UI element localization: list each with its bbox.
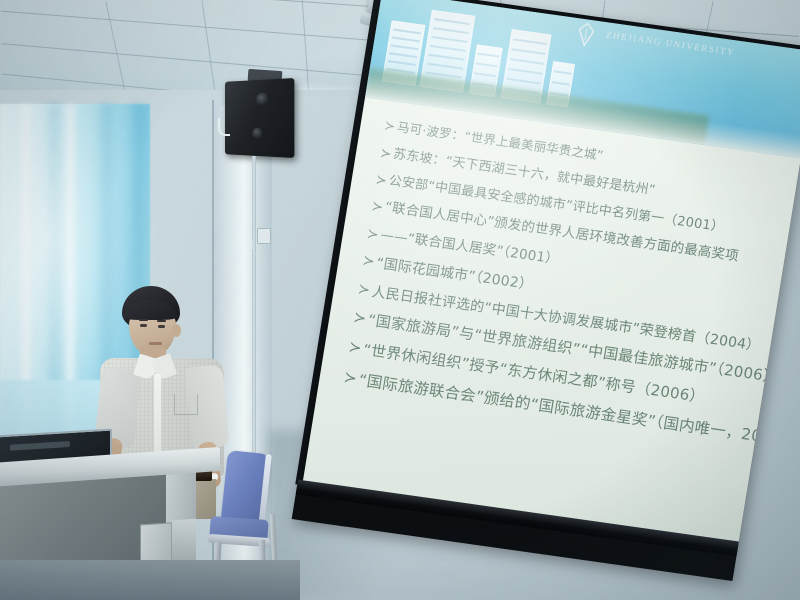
speaker-woofer-icon: [252, 128, 263, 139]
slide-bullet-list: ≻ 马可·波罗：“世界上最美丽华贵之城” ≻ 苏东坡：“天下西湖三十六，就中最好…: [303, 97, 800, 543]
speaker-cable: [218, 118, 230, 136]
bullet-marker-icon: ≻: [384, 118, 397, 134]
projection-screen[interactable]: ZHEJIANG UNIVERSITY ≻ 马可·波罗：“世界上最美丽华贵之城”…: [292, 0, 800, 581]
presenter-mouth: [149, 342, 162, 345]
bullet-marker-icon: ≻: [357, 282, 371, 300]
presenter-ear: [172, 324, 181, 337]
presenter-eyebrow-right: [157, 320, 166, 322]
presenter-eye-right: [158, 325, 165, 328]
bullet-marker-icon: ≻: [361, 254, 375, 272]
speaker-tweeter-icon: [256, 93, 269, 106]
bullet-marker-icon: ≻: [370, 199, 384, 216]
presenter-shirt-pocket: [174, 394, 198, 415]
bullet-marker-icon: ≻: [352, 310, 367, 329]
floor: [0, 560, 300, 600]
bullet-marker-icon: ≻: [347, 339, 362, 358]
wall-cable-conduit: [252, 156, 256, 456]
wall-mounted-loudspeaker: [225, 78, 294, 158]
monitor-screen-glint: [10, 441, 70, 451]
presenter-eye-left: [140, 324, 147, 327]
bullet-marker-icon: ≻: [379, 145, 392, 162]
presenter-eyebrow-left: [139, 319, 148, 321]
university-logo-icon: [571, 20, 601, 49]
photo-scene: ZHEJIANG UNIVERSITY ≻ 马可·波罗：“世界上最美丽华贵之城”…: [0, 0, 800, 600]
bullet-marker-icon: ≻: [375, 172, 388, 189]
screen-surface: ZHEJIANG UNIVERSITY ≻ 马可·波罗：“世界上最美丽华贵之城”…: [303, 0, 800, 543]
bullet-marker-icon: ≻: [342, 369, 358, 389]
bullet-marker-icon: ≻: [366, 226, 380, 243]
